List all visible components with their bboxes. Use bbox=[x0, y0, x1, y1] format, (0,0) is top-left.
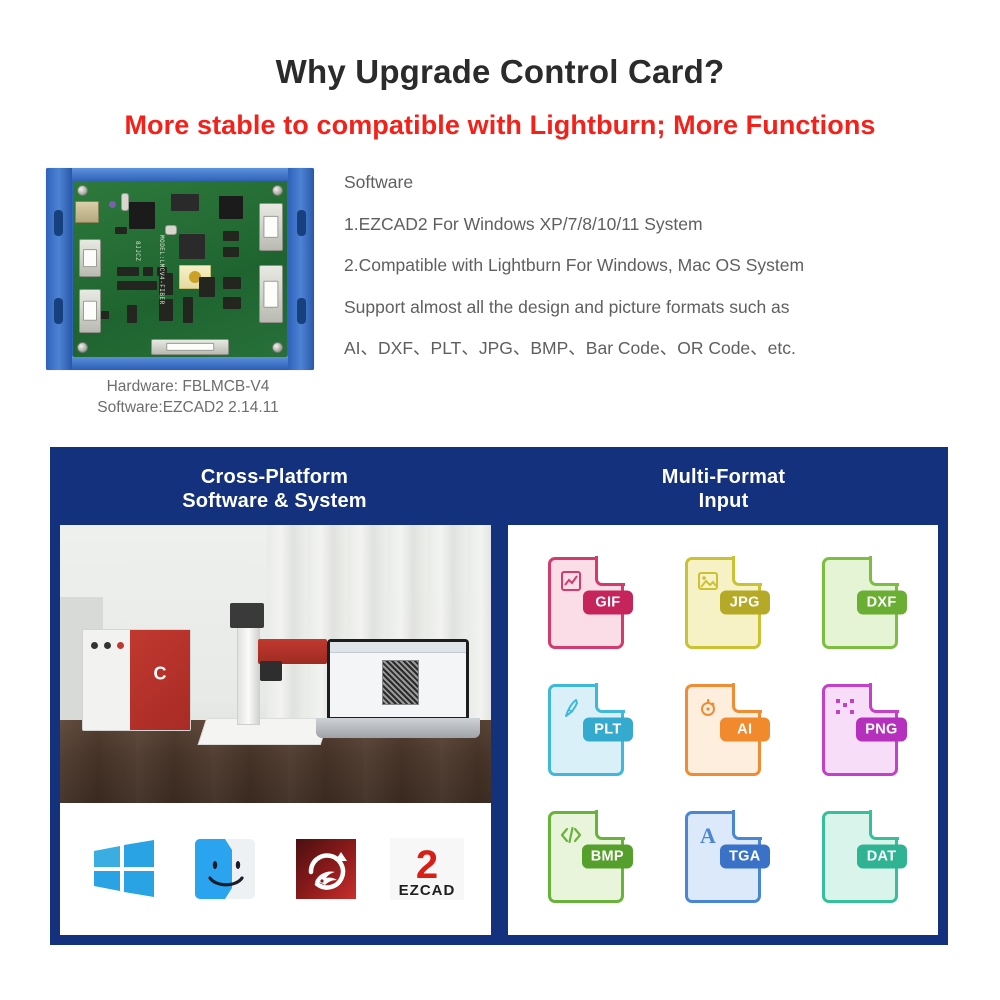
spec-line-title: Software bbox=[344, 174, 994, 192]
smd-part bbox=[115, 227, 127, 234]
file-icon-gif: GIF bbox=[548, 557, 624, 649]
spec-line-formats-list: AI、DXF、PLT、JPG、BMP、Bar Code、OR Code、etc. bbox=[344, 340, 994, 358]
marking-head bbox=[258, 639, 327, 664]
column-head bbox=[230, 603, 264, 628]
pcb-screw bbox=[77, 342, 88, 353]
file-format-label: PNG bbox=[856, 718, 906, 742]
smd-part bbox=[223, 247, 239, 257]
smd-part bbox=[199, 277, 215, 297]
control-card-figure: MODEL:LMCV4-FIBER 8JJCZ Hardware: FBLMCB… bbox=[38, 168, 338, 419]
file-format-label: GIF bbox=[583, 590, 633, 614]
smd-part bbox=[143, 267, 153, 276]
file-fold-corner bbox=[595, 556, 625, 586]
macos-finder-logo bbox=[188, 832, 262, 906]
page-title: Why Upgrade Control Card? bbox=[0, 52, 1000, 92]
pcb-board: MODEL:LMCV4-FIBER 8JJCZ bbox=[73, 181, 287, 357]
smd-part bbox=[135, 281, 157, 290]
file-fold-corner bbox=[869, 810, 899, 840]
file-format-label: PLT bbox=[583, 718, 633, 742]
left-panel-header-line1: Cross-Platform bbox=[182, 465, 367, 489]
control-card-photo: MODEL:LMCV4-FIBER 8JJCZ bbox=[46, 168, 314, 370]
control-card-caption: Hardware: FBLMCB-V4 Software:EZCAD2 2.14… bbox=[38, 377, 338, 419]
gear-icon bbox=[696, 696, 720, 720]
caption-hardware: Hardware: FBLMCB-V4 bbox=[38, 377, 338, 398]
mount-notch bbox=[54, 298, 63, 324]
dots-icon bbox=[833, 696, 857, 720]
spec-line-formats-intro: Support almost all the design and pictur… bbox=[344, 299, 994, 317]
software-toolbar bbox=[330, 642, 466, 653]
db15-connector-right-top bbox=[259, 203, 283, 251]
round-component bbox=[109, 201, 116, 208]
ezcad2-logo: 2 EZCAD bbox=[390, 832, 464, 906]
left-panel-header: Cross-Platform Software & System bbox=[50, 447, 499, 525]
laptop-keyboard-base bbox=[316, 718, 480, 737]
file-format-grid: GIF JPG DXF bbox=[508, 525, 939, 935]
panels-row: 2 EZCAD GIF bbox=[60, 525, 938, 935]
code-icon bbox=[559, 823, 583, 847]
letter-a-icon: A bbox=[696, 823, 720, 847]
db25-connector-right bbox=[259, 265, 283, 323]
pcb-screw bbox=[272, 185, 283, 196]
file-fold-corner bbox=[869, 556, 899, 586]
file-format-label: TGA bbox=[720, 845, 770, 869]
heatsink-left-rail bbox=[46, 168, 72, 370]
heatsink-bottom-rail bbox=[46, 356, 314, 370]
memory-ic bbox=[171, 193, 199, 211]
pcb-screw bbox=[77, 185, 88, 196]
main-ic bbox=[129, 201, 155, 229]
laptop-screen bbox=[327, 639, 469, 720]
pcb-silkscreen-model: MODEL:LMCV4-FIBER bbox=[158, 235, 165, 305]
file-icon-png: PNG bbox=[822, 684, 898, 776]
mount-notch bbox=[54, 210, 63, 236]
cross-platform-panel: 2 EZCAD bbox=[60, 525, 491, 935]
heatsink-right-rail bbox=[288, 168, 314, 370]
brand-face bbox=[130, 630, 190, 730]
caption-software: Software:EZCAD2 2.14.11 bbox=[38, 398, 338, 419]
machine-column bbox=[237, 612, 261, 725]
engraving-preview bbox=[382, 660, 419, 705]
power-button bbox=[117, 642, 124, 649]
file-format-label: DAT bbox=[857, 845, 907, 869]
supported-os-logos: 2 EZCAD bbox=[60, 803, 491, 935]
file-icon-dxf: DXF bbox=[822, 557, 898, 649]
svg-text:EZCAD: EZCAD bbox=[398, 882, 455, 899]
mount-notch bbox=[297, 298, 306, 324]
smd-part bbox=[223, 277, 241, 289]
heatsink-top-rail bbox=[46, 168, 314, 182]
file-format-label: DXF bbox=[857, 590, 907, 614]
fpga-ic bbox=[219, 195, 243, 219]
svg-text:2: 2 bbox=[415, 843, 437, 887]
file-icon-tga: A TGA bbox=[685, 811, 761, 903]
multi-format-panel: GIF JPG DXF bbox=[508, 525, 939, 935]
file-format-label: AI bbox=[720, 718, 770, 742]
software-spec-list: Software 1.EZCAD2 For Windows XP/7/8/10/… bbox=[344, 174, 994, 358]
spec-line-ezcad2: 1.EZCAD2 For Windows XP/7/8/10/11 System bbox=[344, 216, 994, 234]
crystal-oscillator bbox=[121, 193, 129, 211]
mount-notch bbox=[297, 210, 306, 236]
page-subtitle: More stable to compatible with Lightburn… bbox=[0, 109, 1000, 141]
smd-part bbox=[127, 305, 137, 323]
product-overview-section: MODEL:LMCV4-FIBER 8JJCZ Hardware: FBLMCB… bbox=[0, 160, 1000, 435]
spec-line-lightburn: 2.Compatible with Lightburn For Windows,… bbox=[344, 257, 994, 275]
lightburn-logo bbox=[289, 832, 363, 906]
left-panel-header-line2: Software & System bbox=[182, 489, 367, 513]
file-fold-corner bbox=[869, 683, 899, 713]
laser-machine-photo bbox=[60, 525, 491, 803]
svg-text:A: A bbox=[700, 823, 716, 847]
file-icon-jpg: JPG bbox=[685, 557, 761, 649]
image-icon bbox=[696, 569, 720, 593]
heading-block: Why Upgrade Control Card? More stable to… bbox=[0, 52, 1000, 141]
pcb-screw bbox=[272, 342, 283, 353]
smd-part bbox=[223, 297, 241, 309]
db25-connector-bottom bbox=[151, 339, 229, 355]
machine-base-plate bbox=[198, 718, 329, 745]
file-fold-corner bbox=[732, 810, 762, 840]
smd-part bbox=[223, 231, 239, 241]
right-panel-header-line1: Multi-Format bbox=[662, 465, 786, 489]
file-format-label: BMP bbox=[582, 845, 633, 869]
file-format-label: JPG bbox=[720, 590, 770, 614]
pen-icon bbox=[559, 696, 583, 720]
crystal-oscillator bbox=[165, 225, 177, 235]
focus-lens bbox=[260, 661, 282, 680]
right-panel-header-line2: Input bbox=[662, 489, 786, 513]
usb-port bbox=[75, 201, 99, 223]
chart-icon bbox=[559, 569, 583, 593]
file-icon-plt: PLT bbox=[548, 684, 624, 776]
file-fold-corner bbox=[595, 810, 625, 840]
smd-part bbox=[117, 267, 139, 276]
smd-part bbox=[183, 297, 193, 323]
db15-connector-left bbox=[79, 289, 101, 333]
file-fold-corner bbox=[732, 556, 762, 586]
control-knob bbox=[91, 642, 98, 649]
pcb-silkscreen-code: 8JJCZ bbox=[134, 241, 141, 262]
smd-part bbox=[101, 311, 109, 319]
file-icon-ai: AI bbox=[685, 684, 761, 776]
laser-source-box bbox=[82, 629, 192, 731]
windows-logo bbox=[87, 832, 161, 906]
file-icon-bmp: BMP bbox=[548, 811, 624, 903]
control-knob bbox=[104, 642, 111, 649]
file-fold-corner bbox=[595, 683, 625, 713]
processor-ic bbox=[179, 233, 205, 259]
feature-panels-section: Cross-Platform Software & System Multi-F… bbox=[50, 447, 948, 945]
file-fold-corner bbox=[732, 683, 762, 713]
db9-connector bbox=[79, 239, 101, 277]
panels-header-bar: Cross-Platform Software & System Multi-F… bbox=[50, 447, 948, 525]
right-panel-header: Multi-Format Input bbox=[499, 447, 948, 525]
file-icon-dat: DAT bbox=[822, 811, 898, 903]
